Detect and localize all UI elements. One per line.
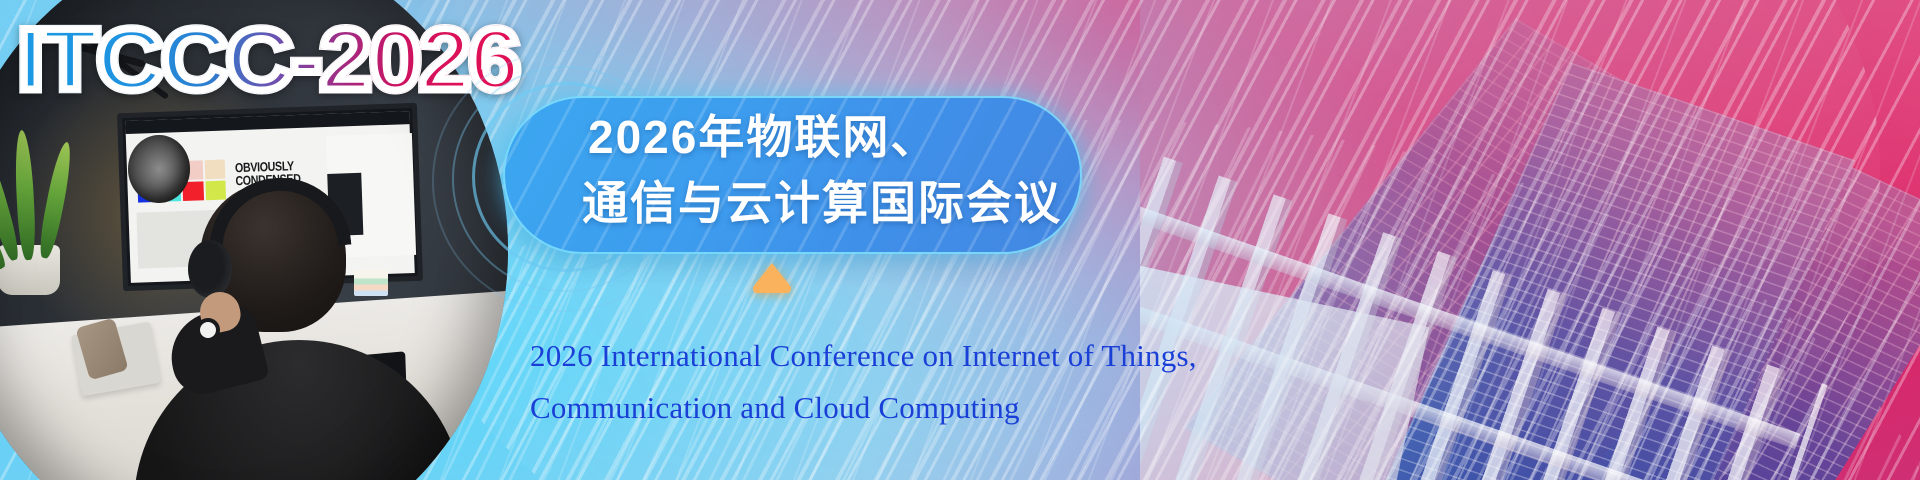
chinese-title: 2026年物联网、 通信与云计算国际会议	[560, 104, 1090, 236]
chinese-title-line2: 通信与云计算国际会议	[560, 170, 1090, 236]
chinese-title-line1: 2026年物联网、	[560, 104, 1090, 170]
english-subtitle: 2026 International Conference on Interne…	[530, 330, 1170, 434]
arrow-up-icon	[753, 263, 791, 287]
conference-banner: OBVIOUSLY CONDENSED ITCCC-2026 ITCCC-202…	[0, 0, 1920, 480]
english-subtitle-line1: 2026 International Conference on Interne…	[530, 330, 1170, 382]
logo-text: ITCCC-2026	[18, 16, 519, 104]
english-subtitle-line2: Communication and Cloud Computing	[530, 382, 1170, 434]
